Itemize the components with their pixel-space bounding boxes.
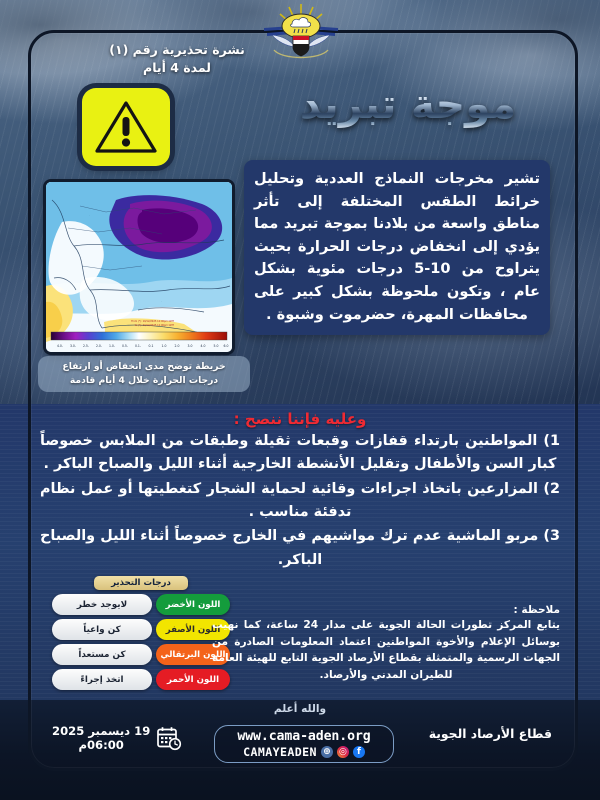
svg-text:to (*): 23/12/2025 12:00pm GMT: to (*): 23/12/2025 12:00pm GMT bbox=[135, 324, 175, 327]
weather-warning-poster: نشرة تحذيرية رقم (١) لمدة 4 أيام موجة تب… bbox=[0, 0, 600, 800]
warning-triangle-icon bbox=[94, 99, 158, 155]
legend-row: اللون الأحمر اتخذ إجراءً bbox=[52, 669, 230, 690]
instagram-icon[interactable]: ◎ bbox=[337, 746, 349, 758]
svg-text:-2.0: -2.0 bbox=[96, 344, 102, 348]
closing-phrase: والله أعلم bbox=[0, 703, 600, 715]
legend-row: اللون الأصفر كن واعياً bbox=[52, 619, 230, 640]
map-caption: خريطة توضح مدى انخفاض أو ارتفاع درجات ال… bbox=[38, 356, 250, 392]
advice-item-1: 1) المواطنين بارتداء قفازات وقبعات ثقيلة… bbox=[40, 430, 560, 477]
map-caption-line-1: خريطة توضح مدى انخفاض أو ارتفاع bbox=[44, 360, 244, 374]
svg-text:4.0: 4.0 bbox=[201, 344, 206, 348]
website-badge[interactable]: www.cama-aden.org f ◎ ⊕ CAMAYEADEN bbox=[214, 725, 394, 763]
issuing-sector: قطاع الأرصاد الجوية bbox=[429, 726, 552, 741]
bulletin-line-2: لمدة 4 أيام bbox=[92, 59, 262, 77]
legend-row: اللون البرتقالي كن مستعداً bbox=[52, 644, 230, 665]
legend-action-red: اتخذ إجراءً bbox=[52, 669, 152, 690]
svg-text:-0.1: -0.1 bbox=[135, 344, 141, 348]
legend-action-green: لايوجد خطر bbox=[52, 594, 152, 615]
legend-row: اللون الأخضر لايوجد خطر bbox=[52, 594, 230, 615]
website-url[interactable]: www.cama-aden.org bbox=[215, 729, 393, 744]
temperature-anomaly-map: ·· ·· ·· From (*): 19/12/2025 12:00pm GM… bbox=[46, 182, 232, 352]
globe-icon[interactable]: ⊕ bbox=[321, 746, 333, 758]
bulletin-line-1: نشرة تحذيرية رقم (١) bbox=[92, 41, 262, 59]
issue-date: 19 ديسمبر 2025 bbox=[52, 724, 150, 738]
svg-text:-0.5: -0.5 bbox=[122, 344, 128, 348]
forecast-paragraph: تشير مخرجات النماذج العددية وتحليل خرائط… bbox=[244, 160, 550, 335]
advice-item-2: 2) المزارعين باتخاذ اجراءات وقائية لحماي… bbox=[40, 478, 560, 525]
advice-section: وعليه فإننا ننصح : 1) المواطنين بارتداء … bbox=[40, 410, 560, 573]
svg-text:3.0: 3.0 bbox=[188, 344, 193, 348]
svg-text:6.0: 6.0 bbox=[224, 344, 229, 348]
legend-action-orange: كن مستعداً bbox=[52, 644, 152, 665]
svg-text:-2.5: -2.5 bbox=[83, 344, 89, 348]
facebook-icon[interactable]: f bbox=[353, 746, 365, 758]
datetime-text: 19 ديسمبر 2025 06:00م bbox=[52, 724, 150, 753]
note-label: ملاحظة : bbox=[212, 604, 560, 616]
svg-text:-1.0: -1.0 bbox=[109, 344, 115, 348]
svg-text:-4.0: -4.0 bbox=[57, 344, 63, 348]
svg-text:2.0: 2.0 bbox=[175, 344, 180, 348]
map-caption-line-2: درجات الحرارة خلال 4 أيام قادمة bbox=[44, 374, 244, 388]
issue-datetime: 19 ديسمبر 2025 06:00م bbox=[52, 724, 182, 753]
cama-authority-logo bbox=[262, 2, 340, 60]
advice-heading: وعليه فإننا ننصح : bbox=[40, 410, 560, 428]
svg-text:-3.0: -3.0 bbox=[70, 344, 76, 348]
temperature-range: 5-10 bbox=[414, 260, 451, 277]
issue-time: 06:00م bbox=[52, 738, 150, 752]
warning-levels-legend: درجات التحذير اللون الأخضر لايوجد خطر ال… bbox=[52, 576, 230, 694]
social-handle-row: f ◎ ⊕ CAMAYEADEN bbox=[215, 745, 393, 759]
note-text: يتابع المركز تطورات الحالة الجوية على مد… bbox=[212, 617, 560, 684]
social-handle[interactable]: CAMAYEADEN bbox=[243, 745, 317, 759]
warning-badge bbox=[82, 88, 170, 166]
advice-item-3: 3) مربو الماشية عدم ترك مواشيهم في الخار… bbox=[40, 525, 560, 572]
legend-action-yellow: كن واعياً bbox=[52, 619, 152, 640]
svg-text:5.0: 5.0 bbox=[214, 344, 219, 348]
svg-text:From (*): 19/12/2025 12:00pm G: From (*): 19/12/2025 12:00pm GMT bbox=[131, 320, 174, 323]
page-title: موجة تبريد bbox=[268, 80, 548, 128]
svg-text:0.1: 0.1 bbox=[149, 344, 154, 348]
note-section: ملاحظة : يتابع المركز تطورات الحالة الجو… bbox=[212, 604, 560, 684]
svg-text:1.0: 1.0 bbox=[162, 344, 167, 348]
bulletin-number: نشرة تحذيرية رقم (١) لمدة 4 أيام bbox=[92, 41, 262, 77]
calendar-clock-icon bbox=[156, 725, 182, 751]
legend-header: درجات التحذير bbox=[94, 576, 188, 590]
